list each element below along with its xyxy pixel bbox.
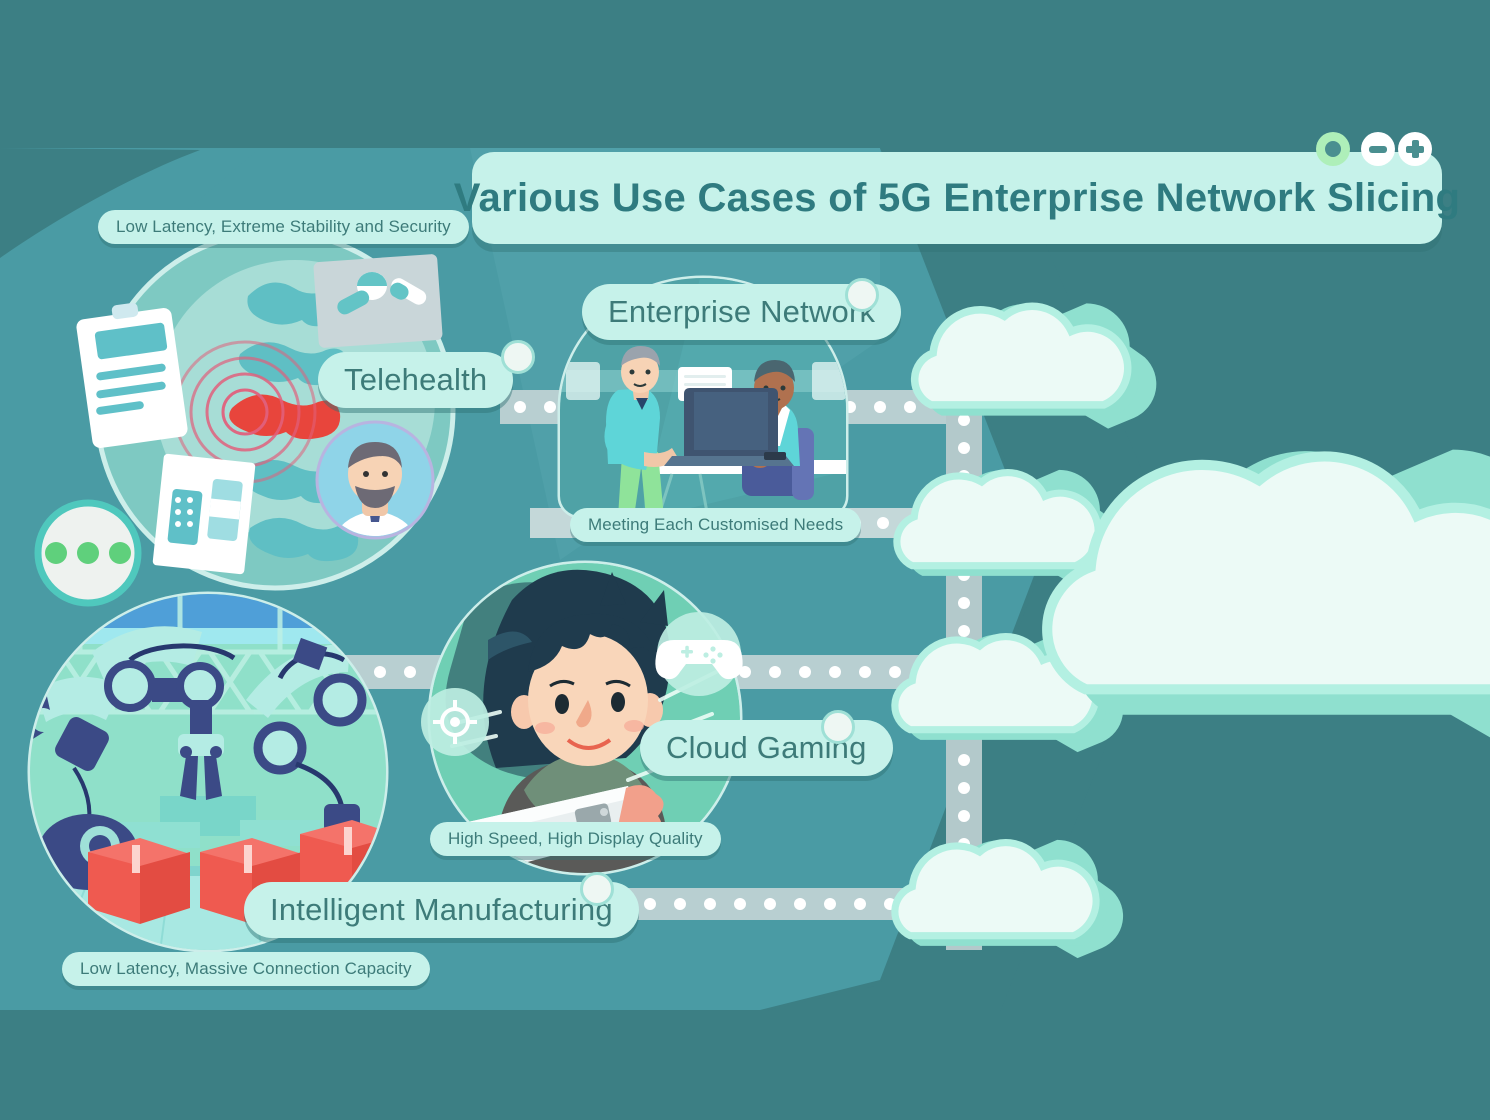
intelligent-manufacturing-caption: Low Latency, Massive Connection Capacity: [62, 952, 430, 986]
telehealth-caption: Low Latency, Extreme Stability and Secur…: [98, 210, 469, 244]
crosshair-badge: [421, 688, 489, 756]
pills-card-icon: [313, 254, 443, 348]
indicator-dot: [109, 542, 131, 564]
telehealth-node-dot[interactable]: [501, 340, 535, 374]
enterprise-network-node-dot[interactable]: [845, 278, 879, 312]
indicator-dot: [77, 542, 99, 564]
prescription-paper-icon: [152, 453, 255, 574]
cloud-4: [895, 840, 1123, 958]
cloud-1: [915, 303, 1157, 428]
cloud-group: [895, 303, 1490, 958]
cloud-gaming-caption: High Speed, High Display Quality: [430, 822, 721, 856]
indicator-dot: [45, 542, 67, 564]
page-title: Various Use Cases of 5G Enterprise Netwo…: [472, 152, 1442, 244]
clipboard-icon: [75, 302, 188, 449]
intelligent-manufacturing-node-dot[interactable]: [580, 872, 614, 906]
cloud-gaming-node-dot[interactable]: [821, 710, 855, 744]
add-button[interactable]: [1398, 132, 1432, 166]
infographic-canvas: Various Use Cases of 5G Enterprise Netwo…: [0, 0, 1490, 1120]
telehealth-label[interactable]: Telehealth: [318, 352, 513, 408]
three-dots-indicator[interactable]: [38, 503, 138, 603]
minimize-button[interactable]: [1361, 132, 1395, 166]
cloud-main: [1047, 450, 1490, 746]
record-button[interactable]: [1316, 132, 1350, 166]
enterprise-network-caption: Meeting Each Customised Needs: [570, 508, 861, 542]
